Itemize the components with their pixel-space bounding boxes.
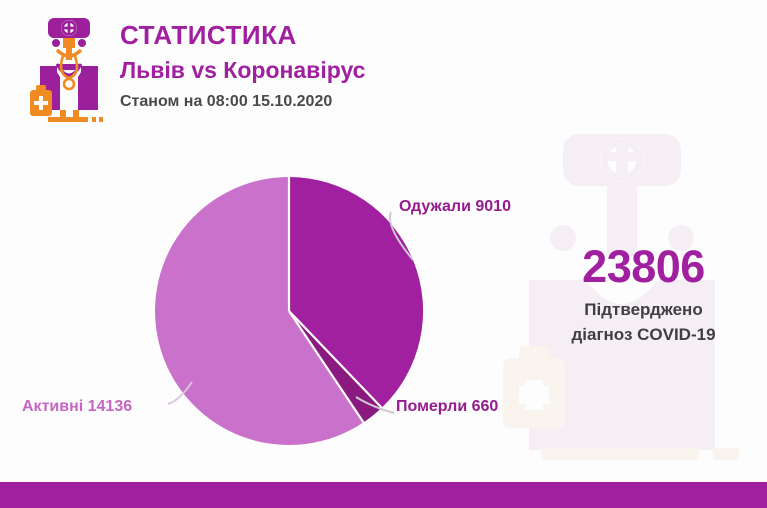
pie-label-deaths: Померли 660 <box>396 398 498 416</box>
total-confirmed-caption-line1: Підтверджено <box>520 298 767 323</box>
total-confirmed-caption-line2: діагноз COVID-19 <box>520 323 767 348</box>
pie-label-recovered: Одужали 9010 <box>399 198 511 216</box>
footer-bar <box>0 482 767 508</box>
total-confirmed-block: 23806 Підтверджено діагноз COVID-19 <box>520 243 767 348</box>
pie-label-active: Активні 14136 <box>22 398 132 416</box>
total-confirmed-number: 23806 <box>520 243 767 290</box>
total-confirmed-caption: Підтверджено діагноз COVID-19 <box>520 298 767 347</box>
infographic-page: СТАТИСТИКА Львів vs Коронавірус Станом н… <box>0 0 767 508</box>
pie-chart: Одужали 9010 Померли 660 Активні 14136 <box>0 0 767 470</box>
